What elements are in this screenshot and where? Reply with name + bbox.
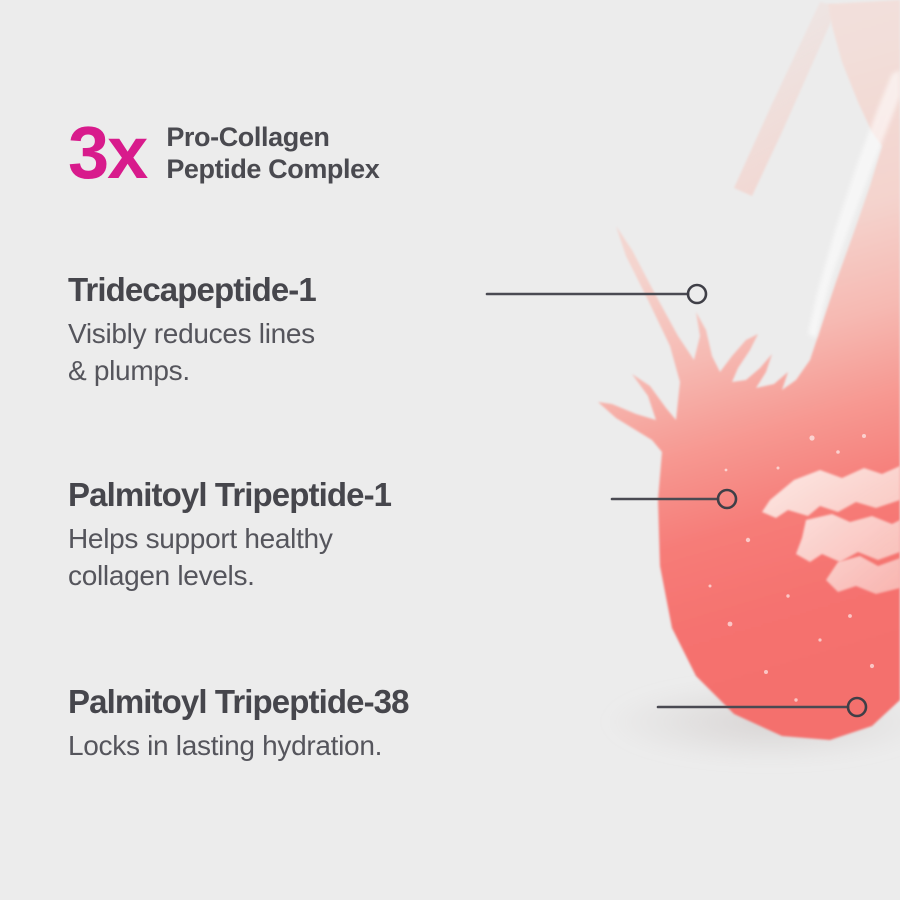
- connector-dot: [848, 698, 866, 716]
- callout-connectors: [0, 0, 900, 900]
- connector-1: [612, 490, 736, 508]
- connector-2: [658, 698, 866, 716]
- infographic-canvas: 3x Pro-Collagen Peptide Complex Tridecap…: [0, 0, 900, 900]
- connector-dot: [718, 490, 736, 508]
- connector-0: [487, 285, 706, 303]
- connector-dot: [688, 285, 706, 303]
